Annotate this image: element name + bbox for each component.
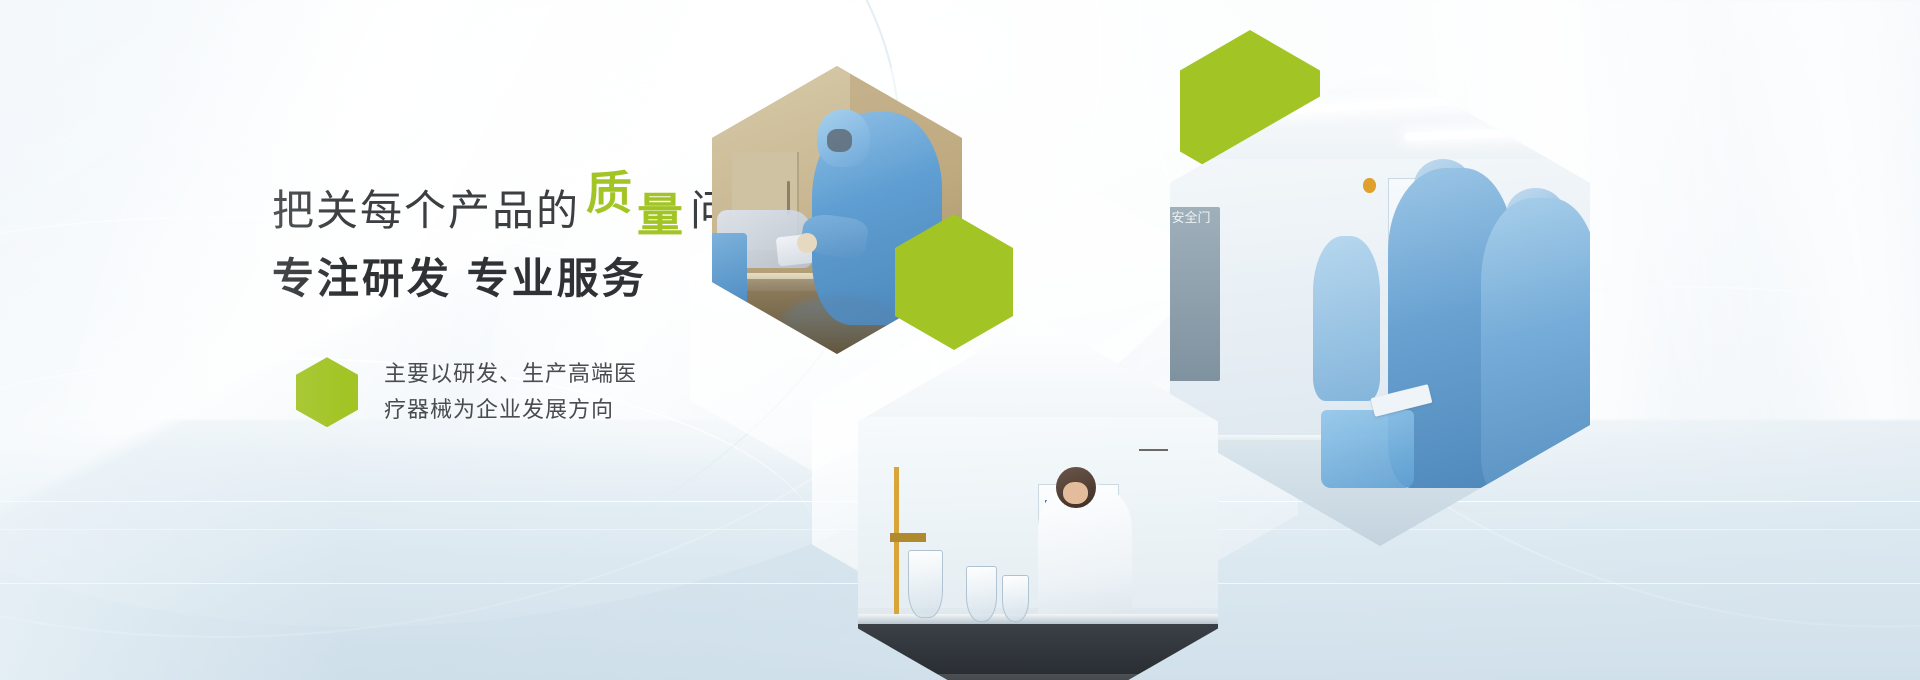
bench-reflection [858,674,1218,680]
amber-indicator [1363,178,1376,193]
headline-accent-bottom: 量 [637,192,684,238]
hexagon-bullet-icon [296,357,358,427]
flask-1 [908,550,942,618]
worker-face [827,129,852,152]
eyeglasses-icon [1139,449,1168,451]
description-line-2: 疗器械为企业发展方向 [384,392,637,428]
technician-background-face [1063,482,1088,505]
lab-bench [858,624,1218,680]
hexagon-photo-collage: 安全门 [690,0,1920,680]
worker-glove [797,233,817,253]
headline-accent-top: 质 [586,170,633,216]
burette-stand [894,467,899,633]
stand-clamp [890,533,926,541]
description-row: 主要以研发、生产高端医 疗器械为企业发展方向 [296,356,637,429]
description-text: 主要以研发、生产高端医 疗器械为企业发展方向 [384,356,637,429]
description-line-1: 主要以研发、生产高端医 [384,356,637,392]
hero-banner: 把关每个产品的 质 量 问题 专注研发 专业服务 主要以研发、生产高端医 疗器械… [0,0,1920,680]
safety-door-sign-text: 安全门 [1170,207,1220,227]
flask-3 [1002,575,1029,623]
lab-bench-top [858,614,1218,624]
flask-2 [966,566,997,622]
blue-basin [1321,410,1413,487]
worker-background [1313,236,1380,401]
headline-part-1: 把关每个产品的 [272,190,580,232]
worker-foreground-2 [1481,198,1590,498]
safety-door-sign: 安全门 [1170,207,1220,381]
